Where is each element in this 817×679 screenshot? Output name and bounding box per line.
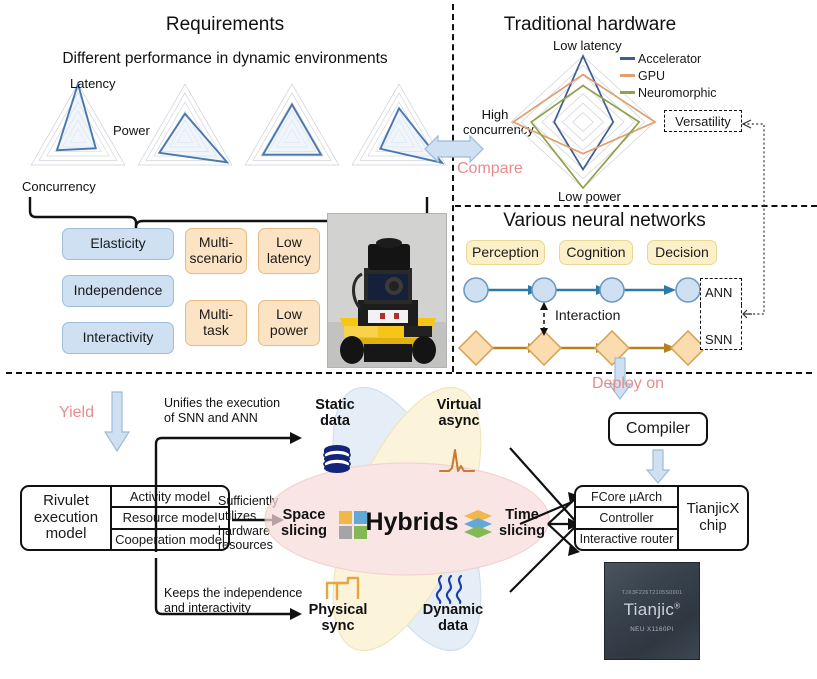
requirements-title: Requirements	[0, 14, 450, 36]
yield-label: Yield	[59, 404, 94, 422]
chip-title: TianjicX chip	[679, 487, 747, 549]
tag-multi-scenario[interactable]: Multi- scenario	[185, 228, 247, 274]
petal-label-static-data: Static data	[303, 398, 367, 429]
compiler-to-chip-arrow-icon	[646, 450, 670, 484]
legend-label-accelerator: Accelerator	[638, 52, 701, 66]
spike-icon	[438, 446, 476, 476]
petal-label-virtual-async: Virtual async	[427, 398, 491, 429]
radar-legend: Accelerator GPU Neuromorphic	[620, 50, 717, 101]
tag-multi-task[interactable]: Multi- task	[185, 300, 247, 346]
legend-swatch-gpu	[620, 74, 635, 77]
wave-icon	[434, 573, 470, 605]
axis-label-latency: Latency	[70, 76, 116, 91]
chip-photo-model: NEU X1160PI	[630, 626, 674, 633]
chip-photo-brand: Tianjic®	[624, 600, 681, 620]
tag-interactivity[interactable]: Interactivity	[62, 322, 174, 354]
tianjicx-chip-box[interactable]: FCore µArch Controller Interactive route…	[574, 485, 749, 551]
interaction-label: Interaction	[555, 307, 620, 323]
compiler-box[interactable]: Compiler	[608, 412, 708, 446]
rivulet-title: Rivulet execution model	[22, 487, 112, 549]
chip-row-controller: Controller	[576, 508, 677, 529]
chip-photo-trademark: ®	[674, 601, 680, 610]
stage-perception[interactable]: Perception	[466, 240, 545, 265]
tianjic-chip-photo: TJX3F226T2105S0001 Tianjic® NEU X1160PI	[604, 562, 700, 660]
layers-icon	[462, 508, 494, 540]
traditional-hardware-title: Traditional hardware	[470, 14, 710, 36]
stage-cognition[interactable]: Cognition	[559, 240, 633, 265]
stage-decision[interactable]: Decision	[647, 240, 717, 265]
chip-row-router: Interactive router	[576, 530, 677, 549]
legend-swatch-neuromorphic	[620, 91, 635, 94]
chip-photo-brand-text: Tianjic	[624, 600, 675, 619]
horizontal-divider-bottom	[6, 372, 812, 374]
vertical-divider	[452, 4, 454, 372]
deploy-on-label: Deploy on	[592, 375, 664, 393]
versatility-link	[742, 112, 817, 322]
tag-low-latency[interactable]: Low latency	[258, 228, 320, 274]
venn-center-label: Hybrids	[357, 508, 467, 537]
petal-label-physical-sync: Physical sync	[302, 603, 374, 634]
yield-arrow-icon	[104, 392, 130, 452]
neural-networks-title: Various neural networks	[462, 210, 747, 232]
database-icon	[322, 444, 352, 476]
legend-label-neuromorphic: Neuromorphic	[638, 86, 717, 100]
chip-row-fcore: FCore µArch	[576, 487, 677, 508]
compare-label: Compare	[457, 160, 523, 178]
legend-label-gpu: GPU	[638, 69, 665, 83]
requirements-subtitle: Different performance in dynamic environ…	[0, 50, 450, 68]
square-wave-icon	[325, 575, 367, 603]
chip-photo-code: TJX3F226T2105S0001	[622, 590, 683, 596]
robot-photo	[327, 213, 447, 368]
axis-label-low-latency: Low latency	[553, 38, 622, 53]
petal-label-space-slicing: Space slicing	[272, 508, 336, 539]
legend-swatch-accelerator	[620, 57, 635, 60]
tag-independence[interactable]: Independence	[62, 275, 174, 307]
tag-elasticity[interactable]: Elasticity	[62, 228, 174, 260]
tag-low-power[interactable]: Low power	[258, 300, 320, 346]
versatility-box: Versatility	[664, 110, 742, 132]
axis-label-concurrency: Concurrency	[22, 179, 96, 194]
compare-arrow-icon	[424, 136, 484, 162]
petal-label-dynamic-data: Dynamic data	[418, 603, 488, 634]
axis-label-power: Power	[113, 123, 150, 138]
snn-box: SNN	[700, 305, 742, 350]
ann-box: ANN	[700, 278, 742, 305]
